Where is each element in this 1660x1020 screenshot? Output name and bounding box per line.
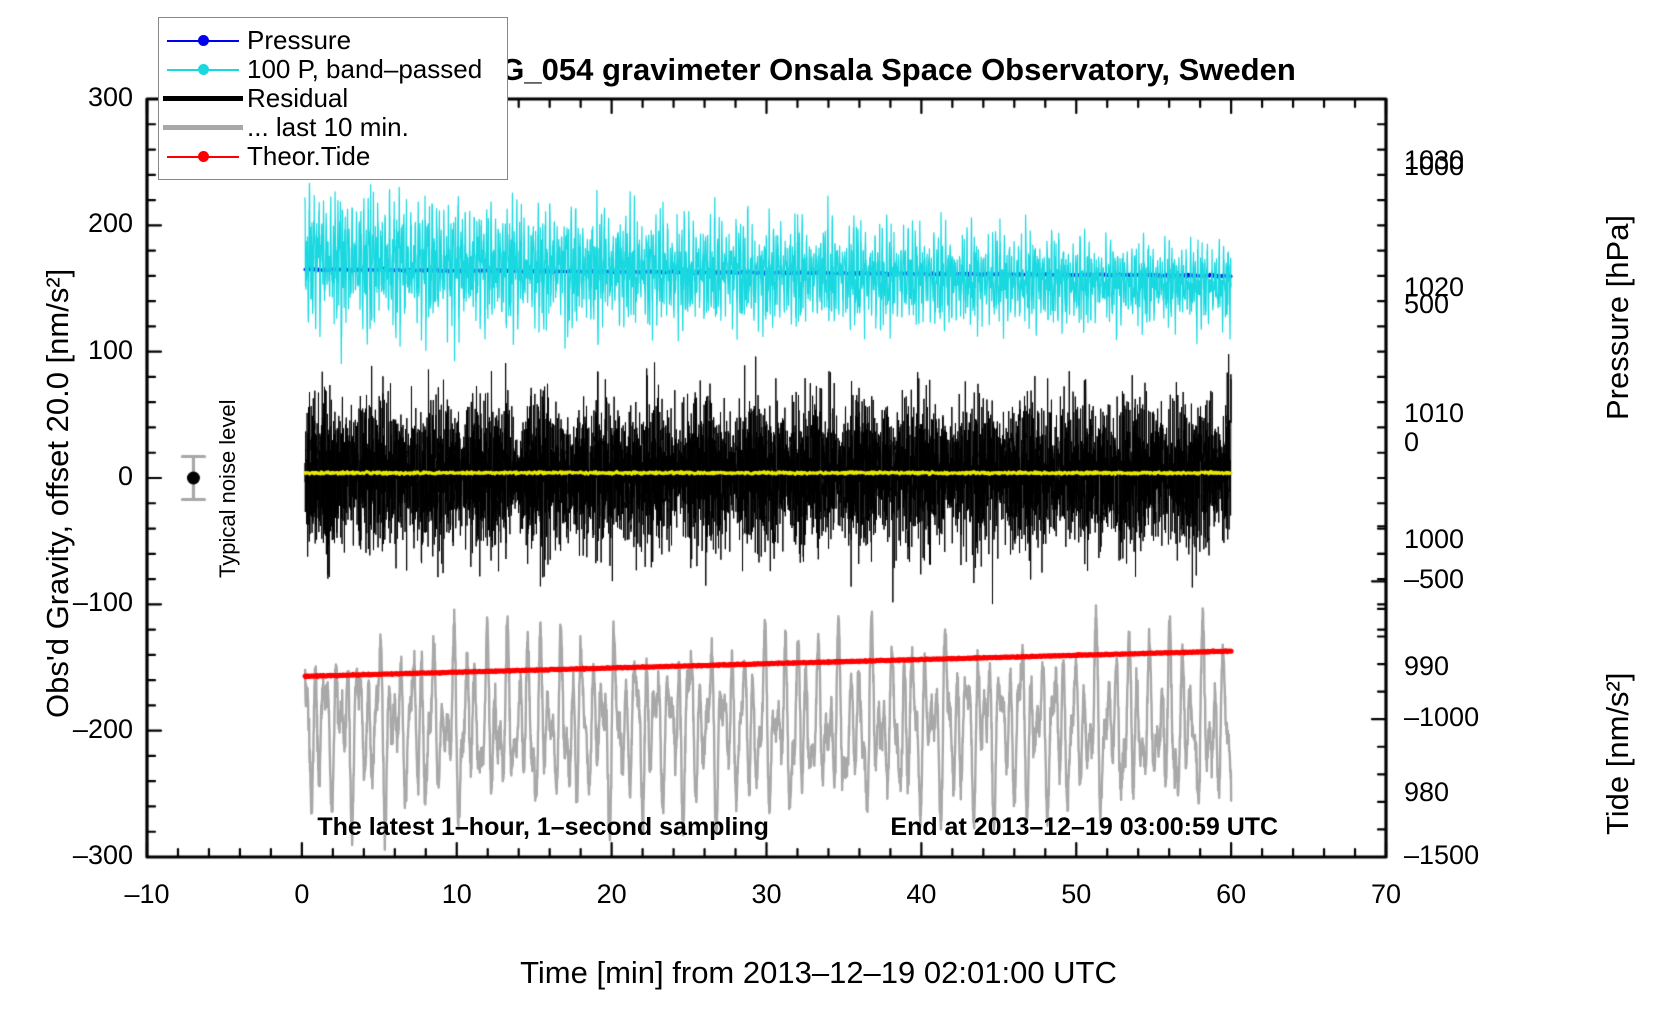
y-tick-label-3: 0 (118, 461, 133, 492)
legend-item-4[interactable]: Theor.Tide (159, 142, 507, 171)
legend-label-4: Theor.Tide (247, 142, 370, 171)
legend-swatch-icon-2 (159, 84, 247, 113)
x-tick-label-8: 70 (1371, 879, 1401, 910)
legend-item-2[interactable]: Residual (159, 84, 507, 113)
x-tick-label-1: 0 (294, 879, 309, 910)
y-tick-label-5: –200 (73, 714, 133, 745)
right-pressure-axis-title: Pressure [hPa] (1600, 215, 1636, 420)
chart-title: SCG_054 gravimeter Onsala Space Observat… (457, 52, 1296, 88)
x-axis-title: Time [min] from 2013–12–19 02:01:00 UTC (520, 955, 1117, 991)
legend-label-3: ... last 10 min. (247, 113, 409, 142)
legend-swatch-icon-3 (159, 113, 247, 142)
tide-tick-label-5: –1500 (1404, 840, 1479, 871)
chart-legend: Pressure100 P, band–passedResidual... la… (158, 17, 508, 180)
noise-level-label: Typical noise level (215, 399, 241, 578)
y-tick-label-1: 200 (88, 208, 133, 239)
chart-page: SCG_054 gravimeter Onsala Space Observat… (0, 0, 1660, 1020)
x-tick-label-6: 50 (1061, 879, 1091, 910)
tide-tick-label-4: –1000 (1404, 702, 1479, 733)
pressure-tick-label-3: 1000 (1404, 524, 1464, 555)
y-tick-label-2: 100 (88, 335, 133, 366)
x-tick-label-7: 60 (1216, 879, 1246, 910)
x-tick-label-4: 30 (751, 879, 781, 910)
tide-tick-label-1: 500 (1404, 289, 1449, 320)
legend-label-0: Pressure (247, 26, 351, 55)
pressure-tick-label-4: 990 (1404, 651, 1449, 682)
end-time-note: End at 2013–12–19 03:00:59 UTC (890, 813, 1278, 842)
legend-label-1: 100 P, band–passed (247, 55, 482, 84)
tide-tick-label-3: –500 (1404, 564, 1464, 595)
pressure-tick-label-2: 1010 (1404, 398, 1464, 429)
y-tick-label-4: –100 (73, 587, 133, 618)
y-tick-label-6: –300 (73, 840, 133, 871)
legend-item-1[interactable]: 100 P, band–passed (159, 55, 507, 84)
x-tick-label-2: 10 (442, 879, 472, 910)
right-tide-axis-title: Tide [nm/s²] (1600, 673, 1636, 836)
x-tick-label-0: –10 (124, 879, 169, 910)
tide-tick-label-2: 0 (1404, 427, 1419, 458)
legend-swatch-icon-0 (159, 26, 247, 55)
legend-swatch-icon-1 (159, 55, 247, 84)
legend-item-3[interactable]: ... last 10 min. (159, 113, 507, 142)
legend-label-2: Residual (247, 84, 348, 113)
x-tick-label-5: 40 (906, 879, 936, 910)
legend-item-0[interactable]: Pressure (159, 26, 507, 55)
pressure-tick-label-5: 980 (1404, 777, 1449, 808)
y-axis-title: Obs'd Gravity, offset 20.0 [nm/s²] (40, 269, 76, 718)
legend-swatch-icon-4 (159, 142, 247, 171)
sampling-note: The latest 1–hour, 1–second sampling (317, 813, 769, 842)
tide-tick-label-0: 1000 (1404, 151, 1464, 182)
x-tick-label-3: 20 (597, 879, 627, 910)
y-tick-label-0: 300 (88, 82, 133, 113)
